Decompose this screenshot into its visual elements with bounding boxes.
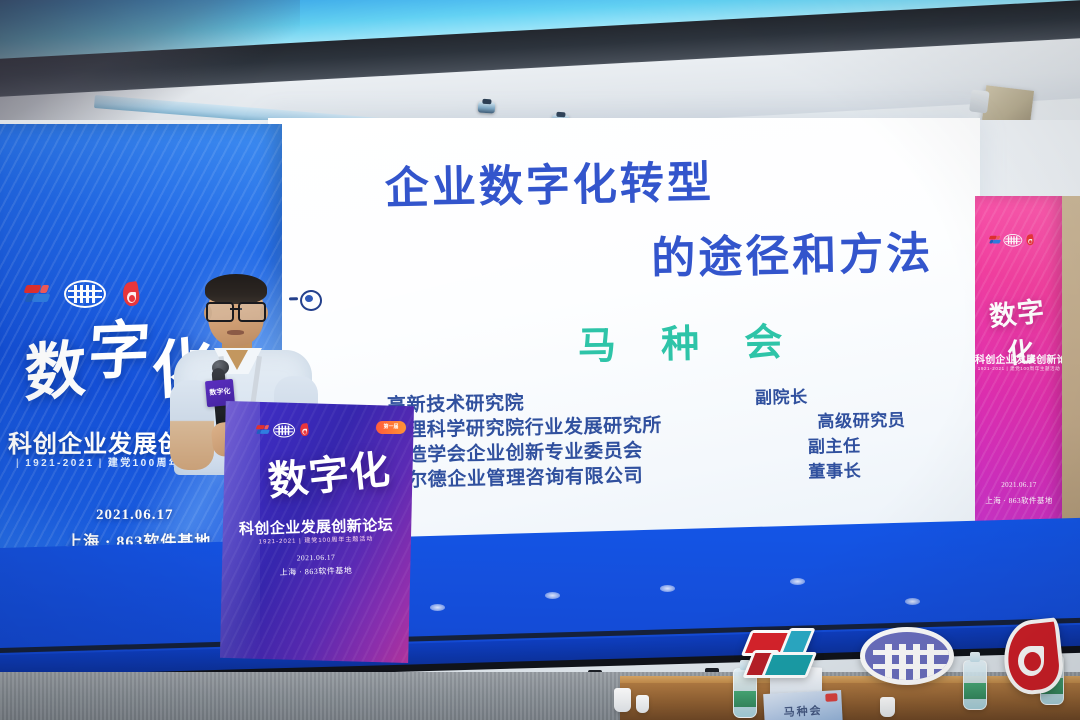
oval-globe-logo-icon xyxy=(64,280,106,308)
affiliation-title: 高级研究员 xyxy=(817,406,905,433)
affiliation-org: 邦尔德企业管理咨询有限公司 xyxy=(388,461,643,493)
podium-calligraphy: 数字化 xyxy=(261,436,396,507)
flame-logo-icon xyxy=(1025,234,1035,246)
banner-right-forum-sub: 1921-2021 | 建党100周年主题活动 xyxy=(975,366,1063,372)
banner-right-forum-title: 科创企业发展创新论坛 xyxy=(975,351,1063,366)
speaker-mouth xyxy=(227,330,244,335)
banner-right-logos xyxy=(989,234,1035,247)
slide-title-line1: 企业数字化转型 xyxy=(384,146,714,216)
floor-marker xyxy=(430,604,445,611)
angular-s-logo-icon xyxy=(24,281,50,307)
ceiling-shadow xyxy=(0,0,300,120)
glasses-icon xyxy=(206,302,266,318)
watermark-oval-globe-logo-icon xyxy=(860,627,954,685)
slide-speaker-name: 马 种 会 xyxy=(577,311,798,370)
paper-cup xyxy=(880,697,895,717)
slide-title-line2: 的途径和方法 xyxy=(651,217,934,286)
floor-marker xyxy=(545,592,560,599)
affiliation-list: 高新技术研究院 副院长 管理科学研究院行业发展研究所 高级研究员 创造学会企业创… xyxy=(387,379,969,490)
floor-marker xyxy=(790,578,805,585)
affiliation-title: 副院长 xyxy=(755,382,808,408)
watermark-flame-logo-icon xyxy=(1000,618,1060,690)
angular-s-logo-icon xyxy=(256,423,270,437)
podium-badge: 第一届 xyxy=(376,421,406,434)
flame-logo-icon xyxy=(120,281,142,308)
watermark-angular-s-logo-icon xyxy=(744,620,810,686)
podium-logos xyxy=(256,423,310,438)
floor-marker xyxy=(660,585,675,592)
name-card-text: 马种会 xyxy=(764,701,843,720)
affiliation-title: 副主任 xyxy=(808,431,861,457)
name-card: 马种会 xyxy=(763,690,843,720)
oval-globe-logo-icon xyxy=(1003,234,1022,247)
affiliation-title: 董事长 xyxy=(808,456,861,482)
banner-left-logos xyxy=(24,280,142,308)
conference-stage-photo: 企业数字化转型 的途径和方法 马 种 会 高新技术研究院 副院长 管理科学研究院… xyxy=(0,0,1080,720)
water-bottle xyxy=(963,660,987,710)
speaker-hair xyxy=(205,274,267,304)
forum-years: 1921-2021 xyxy=(25,458,94,469)
paper-cup xyxy=(636,695,649,713)
calligraphy-char: 字 xyxy=(86,324,153,383)
floor-marker xyxy=(905,598,920,605)
spotlight-icon xyxy=(478,101,496,113)
microphone-flag-text: 数字化 xyxy=(206,386,235,398)
podium: 第一届 数字化 科创企业发展创新论坛 1921-2021 | 建党100周年主题… xyxy=(218,401,414,663)
angular-s-logo-icon xyxy=(989,234,1001,246)
paper-cup xyxy=(614,688,631,712)
banner-right-date: 2021.06.17 xyxy=(975,481,1063,489)
banner-left-date: 2021.06.17 xyxy=(96,507,174,524)
oval-globe-logo-icon xyxy=(273,423,295,438)
flame-logo-icon xyxy=(299,423,310,437)
banner-right-place: 上海 · 863软件基地 xyxy=(975,495,1063,506)
calligraphy-char: 数 xyxy=(25,342,89,405)
